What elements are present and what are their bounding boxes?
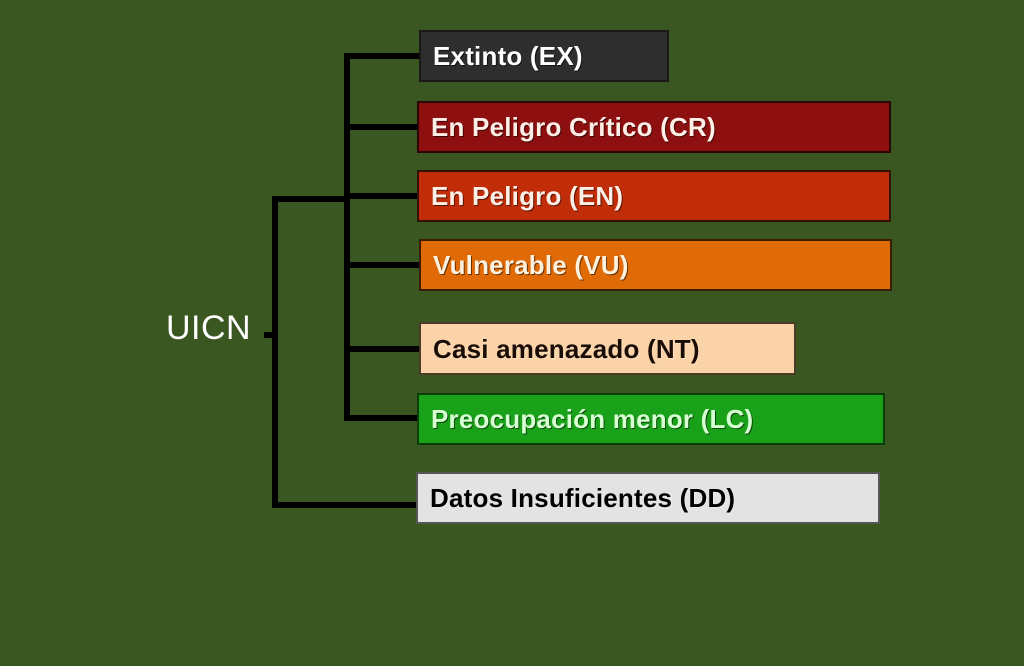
connector-outer-spine (272, 196, 278, 508)
category-label-en: En Peligro (EN) (431, 183, 623, 209)
category-box-cr[interactable]: En Peligro Crítico (CR) (417, 101, 891, 153)
connector-arm-cr (344, 124, 420, 130)
connector-outer-arm-top (272, 196, 350, 202)
category-label-vu: Vulnerable (VU) (433, 252, 629, 278)
iucn-category-diagram: UICN Extinto (EX) En Peligro Crítico (CR… (0, 0, 1024, 666)
category-label-cr: En Peligro Crítico (CR) (431, 114, 716, 140)
category-box-vu[interactable]: Vulnerable (VU) (419, 239, 892, 291)
connector-arm-nt (344, 346, 420, 352)
connector-arm-lc (344, 415, 420, 421)
category-label-ex: Extinto (EX) (433, 43, 583, 69)
connector-arm-en (344, 193, 420, 199)
root-label-uicn: UICN (166, 311, 251, 345)
category-box-ex[interactable]: Extinto (EX) (419, 30, 669, 82)
category-label-nt: Casi amenazado (NT) (433, 336, 700, 362)
connector-arm-ex (344, 53, 420, 59)
category-box-lc[interactable]: Preocupación menor (LC) (417, 393, 885, 445)
category-box-en[interactable]: En Peligro (EN) (417, 170, 891, 222)
connector-arm-vu (344, 262, 420, 268)
category-label-dd: Datos Insuficientes (DD) (430, 485, 735, 511)
connector-inner-spine (344, 53, 350, 421)
category-label-lc: Preocupación menor (LC) (431, 406, 753, 432)
connector-outer-arm-bottom (272, 502, 420, 508)
category-box-nt[interactable]: Casi amenazado (NT) (419, 322, 796, 375)
category-box-dd[interactable]: Datos Insuficientes (DD) (416, 472, 880, 524)
